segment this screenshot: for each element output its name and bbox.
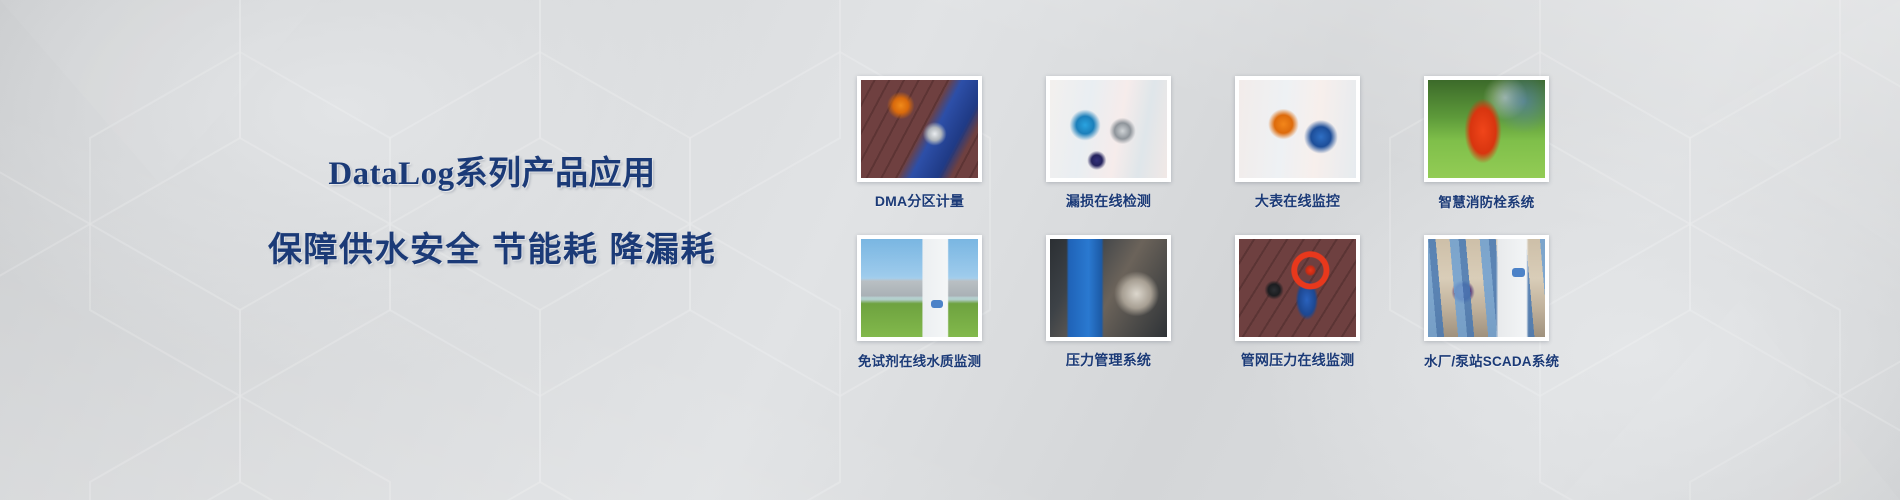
product-thumbnail-frame (1235, 76, 1360, 182)
panel-logo-icon (1512, 268, 1525, 277)
waterworks-pump-scada-photo (1428, 239, 1545, 337)
product-caption: DMA分区计量 (857, 191, 982, 211)
headline-line-2: 保障供水安全 节能耗 降漏耗 (268, 222, 716, 271)
product-grid: DMA分区计量 漏损在线检测 大表在线监控 智慧消防栓系统 (857, 76, 1549, 370)
product-card[interactable]: 免试剂在线水质监测 (857, 235, 982, 370)
promo-banner: DataLog系列产品应用 保障供水安全 节能耗 降漏耗 DMA分区计量 漏损在… (0, 0, 1900, 500)
smart-fire-hydrant-system-photo (1428, 80, 1545, 178)
product-card[interactable]: DMA分区计量 (857, 76, 982, 211)
product-thumbnail-frame (1424, 76, 1549, 182)
product-card[interactable]: 漏损在线检测 (1046, 76, 1171, 211)
product-thumbnail-frame (1235, 235, 1360, 341)
product-caption: 水厂/泵站SCADA系统 (1424, 350, 1549, 370)
pipe-network-pressure-photo (1239, 239, 1356, 337)
pressure-management-system-photo (1050, 239, 1167, 337)
product-thumbnail-frame (1046, 76, 1171, 182)
leakage-online-detection-photo (1050, 80, 1167, 178)
product-caption: 大表在线监控 (1235, 191, 1360, 211)
product-card[interactable]: 管网压力在线监测 (1235, 235, 1360, 370)
product-card[interactable]: 压力管理系统 (1046, 235, 1171, 370)
headline-block: DataLog系列产品应用 保障供水安全 节能耗 降漏耗 (268, 146, 716, 271)
product-caption: 免试剂在线水质监测 (857, 350, 982, 370)
product-thumbnail-frame (1046, 235, 1171, 341)
product-thumbnail-frame (1424, 235, 1549, 341)
dma-zone-metering-photo (861, 80, 978, 178)
product-card[interactable]: 水厂/泵站SCADA系统 (1424, 235, 1549, 370)
product-card[interactable]: 大表在线监控 (1235, 76, 1360, 211)
reagent-free-water-quality-photo (861, 239, 978, 337)
product-caption: 管网压力在线监测 (1235, 350, 1360, 370)
panel-logo-icon (931, 300, 943, 308)
product-caption: 压力管理系统 (1046, 350, 1171, 370)
headline-line-1: DataLog系列产品应用 (268, 146, 716, 194)
product-thumbnail-frame (857, 235, 982, 341)
product-card[interactable]: 智慧消防栓系统 (1424, 76, 1549, 211)
product-caption: 智慧消防栓系统 (1424, 191, 1549, 211)
product-caption: 漏损在线检测 (1046, 191, 1171, 211)
product-thumbnail-frame (857, 76, 982, 182)
large-meter-online-monitoring-photo (1239, 80, 1356, 178)
